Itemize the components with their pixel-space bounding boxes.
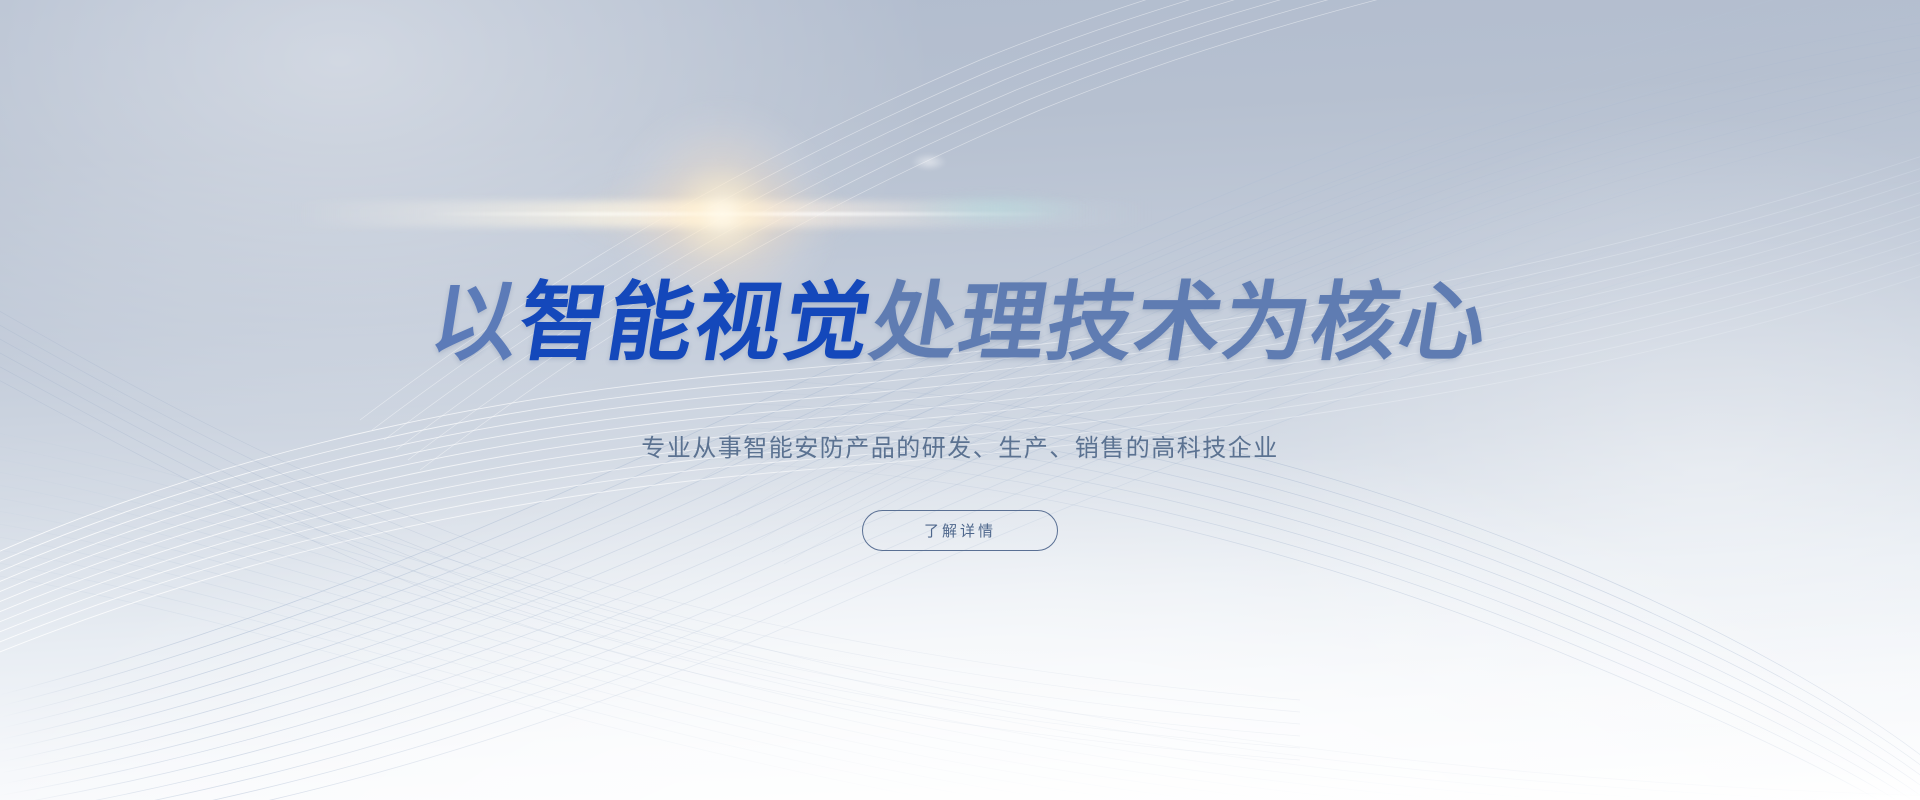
hero-subtitle: 专业从事智能安防产品的研发、生产、销售的高科技企业 (0, 428, 1920, 463)
learn-more-button[interactable]: 了解详情 (862, 510, 1058, 551)
headline-segment-1: 以 (425, 280, 527, 366)
hero-banner: 以智能视觉处理技术为核心 专业从事智能安防产品的研发、生产、销售的高科技企业 了… (0, 0, 1920, 800)
hero-content: 以智能视觉处理技术为核心 专业从事智能安防产品的研发、生产、销售的高科技企业 了… (0, 0, 1920, 800)
page-title: 以智能视觉处理技术为核心 (0, 280, 1920, 366)
cta-container: 了解详情 (0, 510, 1920, 551)
headline-segment-2: 智能视觉 (513, 280, 879, 366)
headline-segment-3: 处理技术为核心 (865, 280, 1495, 366)
